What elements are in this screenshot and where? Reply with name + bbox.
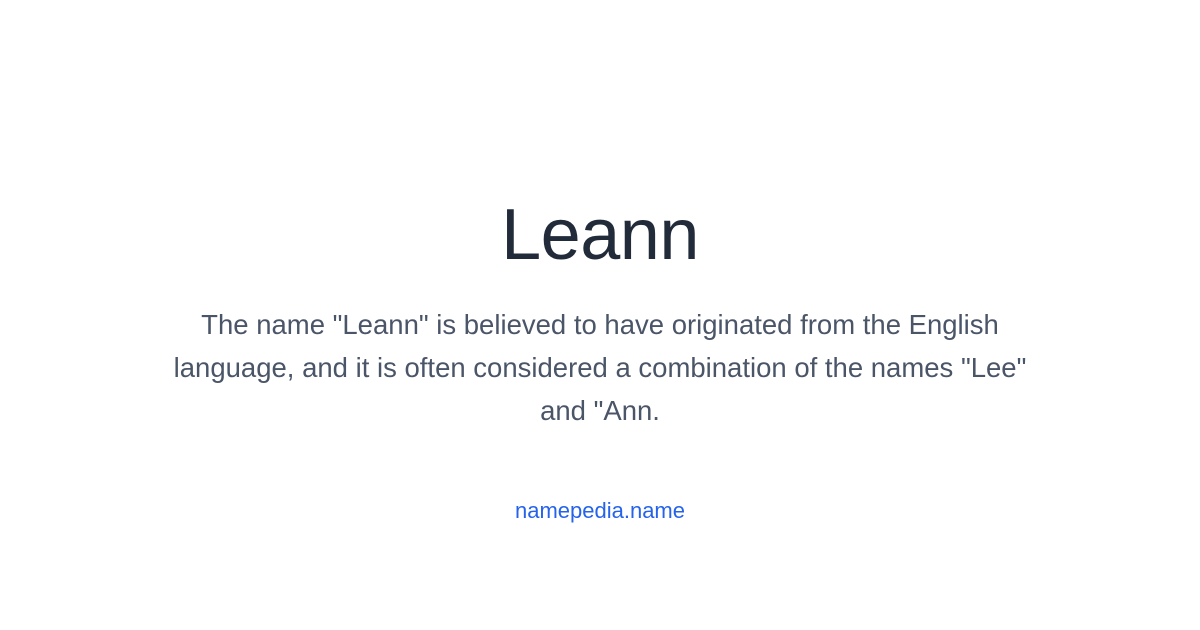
name-info-card: Leann The name "Leann" is believed to ha… <box>0 0 1200 630</box>
name-description: The name "Leann" is believed to have ori… <box>155 303 1045 432</box>
site-link[interactable]: namepedia.name <box>515 498 685 523</box>
page-title: Leann <box>0 196 1200 275</box>
site-link-container: namepedia.name <box>0 498 1200 524</box>
